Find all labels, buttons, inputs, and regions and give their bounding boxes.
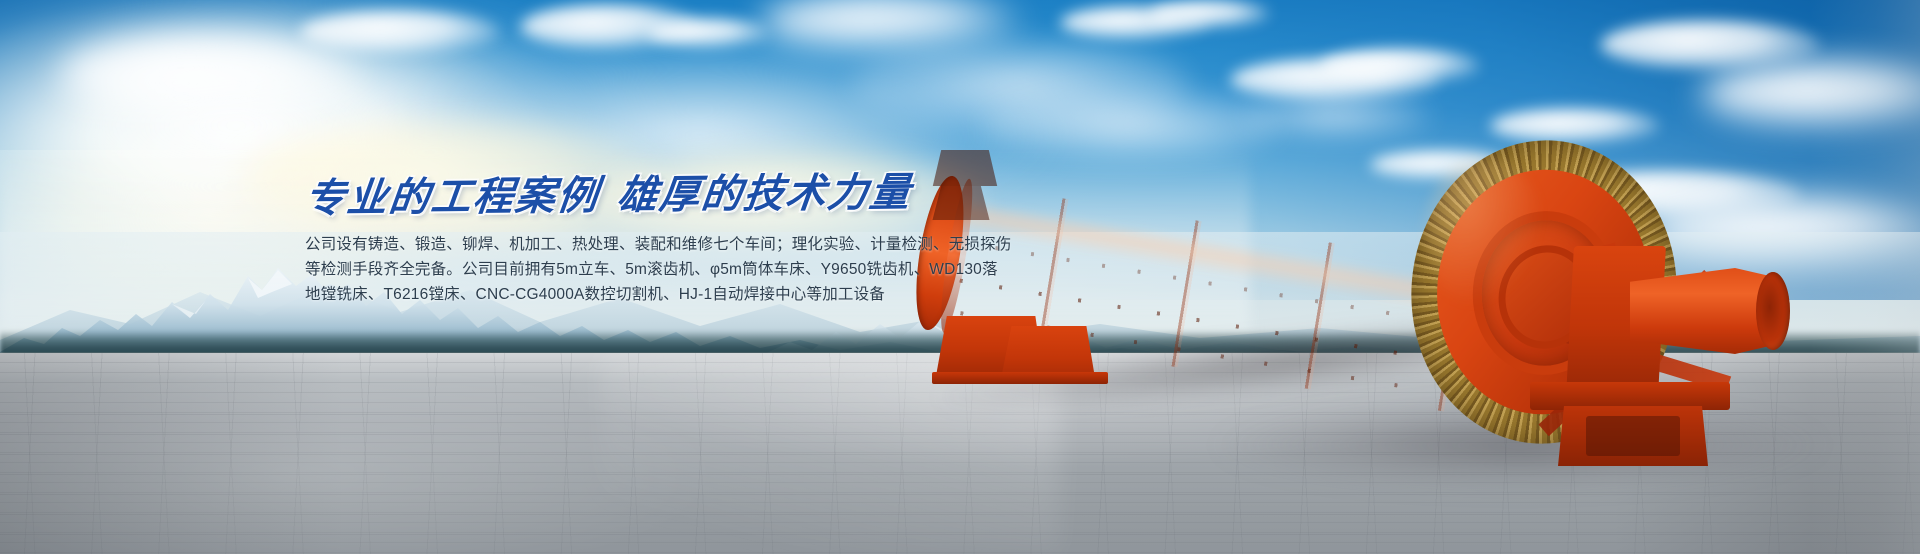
hero-banner: 专业的工程案例雄厚的技术力量 公司设有铸造、锻造、铆焊、机加工、热处理、装配和维… xyxy=(0,0,1920,554)
description-line-1: 公司设有铸造、锻造、铆焊、机加工、热处理、装配和维修七个车间；理化实验、计量检测… xyxy=(305,232,945,257)
headline-part-1: 专业的工程案例 xyxy=(303,173,602,221)
banner-description: 公司设有铸造、锻造、铆焊、机加工、热处理、装配和维修七个车间；理化实验、计量检测… xyxy=(305,232,945,307)
banner-headline: 专业的工程案例雄厚的技术力量 xyxy=(303,171,949,220)
headline-part-2: 雄厚的技术力量 xyxy=(615,170,914,218)
mill-bearing-base xyxy=(1530,382,1730,410)
ball-mill-machine xyxy=(930,150,1920,500)
mill-support-base-plate xyxy=(932,372,1108,384)
banner-text-block: 专业的工程案例雄厚的技术力量 公司设有铸造、锻造、铆焊、机加工、热处理、装配和维… xyxy=(305,178,945,307)
description-line-2: 等检测手段齐全完备。公司目前拥有5m立车、5m滚齿机、φ5m筒体车床、Y9650… xyxy=(305,257,945,282)
mill-discharge-opening xyxy=(1756,272,1790,350)
description-line-3: 地镗铣床、T6216镗床、CNC-CG4000A数控切割机、HJ-1自动焊接中心… xyxy=(305,282,945,307)
mill-pier-recess xyxy=(1586,416,1680,456)
ring-gear-highlight xyxy=(1424,158,1544,308)
